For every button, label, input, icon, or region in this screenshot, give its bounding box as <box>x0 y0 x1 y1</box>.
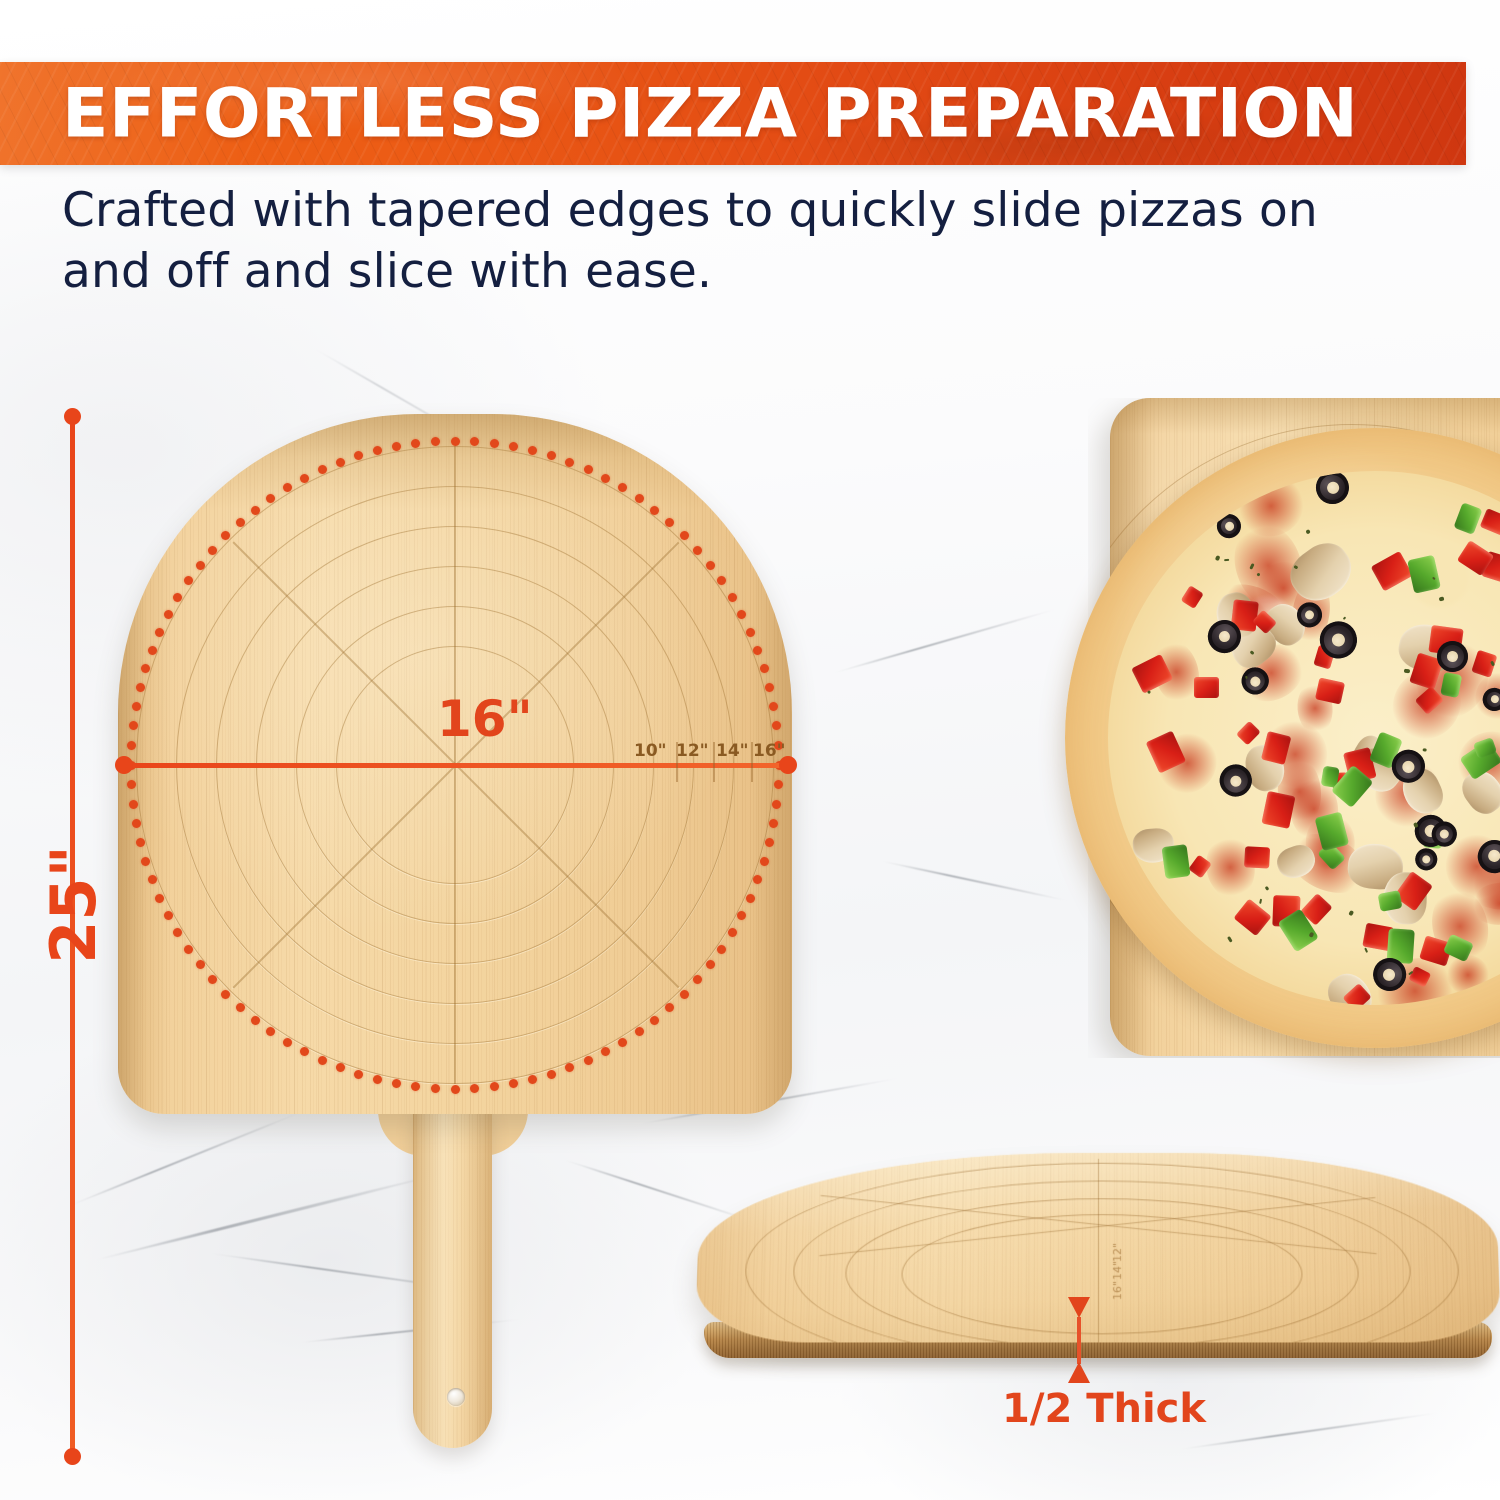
red-pepper-topping <box>1233 899 1272 937</box>
red-pepper-topping <box>1261 791 1295 829</box>
herb-fleck <box>1364 948 1368 953</box>
herb-fleck <box>1305 529 1310 535</box>
subtitle-text: Crafted with tapered edges to quickly sl… <box>62 180 1362 302</box>
thickness-label: 1/2 Thick <box>1002 1386 1206 1432</box>
red-pepper-topping <box>1370 550 1413 591</box>
green-pepper-topping <box>1452 502 1482 535</box>
herb-fleck <box>1265 886 1270 891</box>
green-pepper-topping <box>1162 844 1191 879</box>
red-pepper-topping <box>1180 585 1203 609</box>
sauce-blotch <box>1200 833 1259 903</box>
side-mark-14: 14" <box>1111 1261 1124 1280</box>
herb-fleck <box>1215 555 1221 561</box>
red-pepper-topping <box>1236 721 1261 746</box>
red-pepper-topping <box>1480 509 1500 537</box>
herb-fleck <box>1439 597 1445 602</box>
board-top-face: 16" 14" 12" <box>695 1153 1500 1343</box>
side-mark-12: 12" <box>1111 1243 1124 1262</box>
green-pepper-topping <box>1377 890 1402 911</box>
product-infographic: 25" 16" 10" 12" 14" 16" 16" <box>0 0 1500 1500</box>
subtitle-line-2: and off and slice with ease. <box>62 241 1362 302</box>
herb-fleck <box>1224 558 1229 560</box>
herb-fleck <box>1259 898 1262 903</box>
black-olive-topping <box>1413 846 1440 873</box>
herb-fleck <box>1147 691 1151 695</box>
black-olive-topping <box>1310 471 1354 510</box>
red-pepper-topping <box>1194 677 1219 698</box>
red-pepper-topping <box>1245 846 1271 868</box>
page-title: EFFORTLESS PIZZA PREPARATION <box>62 74 1358 153</box>
herb-fleck <box>1403 668 1409 672</box>
herb-fleck <box>1423 748 1427 752</box>
thickness-arrow <box>1068 1297 1090 1383</box>
herb-fleck <box>1227 936 1233 942</box>
green-pepper-topping <box>1407 555 1441 594</box>
side-ring-4 <box>901 1214 1304 1334</box>
header-banner: EFFORTLESS PIZZA PREPARATION <box>0 62 1466 165</box>
subtitle-line-1: Crafted with tapered edges to quickly sl… <box>62 180 1362 241</box>
herb-fleck <box>1343 616 1347 620</box>
herb-fleck <box>1348 910 1354 916</box>
side-mark-16: 16" <box>1111 1281 1124 1300</box>
side-cut-vertical <box>1098 1159 1099 1343</box>
